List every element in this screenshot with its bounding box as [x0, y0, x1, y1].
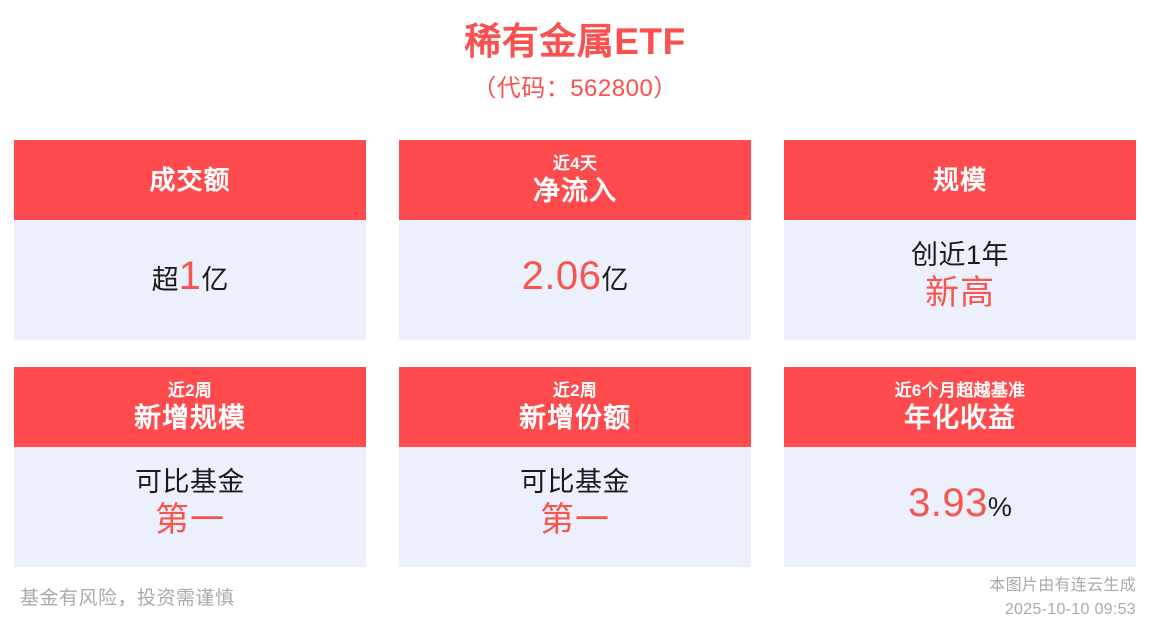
page-title: 稀有金属ETF [0, 18, 1150, 66]
risk-disclaimer: 基金有风险，投资需谨慎 [20, 586, 235, 612]
metric-card-period-label: 近6个月超越基准 [895, 380, 1026, 401]
metric-card-period-label: 近4天 [553, 153, 597, 174]
metric-card-title: 成交额 [149, 164, 230, 196]
metric-card-header: 近2周新增规模 [14, 367, 366, 447]
credit-timestamp: 2025-10-10 09:53 [989, 598, 1136, 622]
metric-card-header: 近6个月超越基准年化收益 [784, 367, 1136, 447]
metric-card-body: 超1亿 [14, 220, 366, 340]
metric-value-part: % [988, 492, 1012, 523]
page-header: 稀有金属ETF （代码：562800） [0, 0, 1150, 106]
metric-card-period-label: 近2周 [553, 380, 597, 401]
metric-card: 近6个月超越基准年化收益3.93% [784, 367, 1136, 567]
metric-card: 近4天净流入2.06亿 [399, 140, 751, 340]
metric-value-part: 亿 [601, 265, 628, 296]
metric-value-caption: 可比基金 [520, 466, 630, 499]
etf-summary-card-page: 稀有金属ETF （代码：562800） 成交额超1亿近4天净流入2.06亿规模创… [0, 0, 1150, 632]
metric-value-caption: 创近1年 [911, 239, 1009, 272]
metric-card-period-label: 近2周 [168, 380, 212, 401]
metric-value-part: 3.93 [908, 480, 988, 526]
metric-card: 成交额超1亿 [14, 140, 366, 340]
metric-card-title: 净流入 [533, 174, 617, 208]
metric-value-highlight: 新高 [925, 273, 995, 313]
metric-card-title: 新增份额 [519, 401, 631, 435]
page-footer: 基金有风险，投资需谨慎 本图片由有连云生成 2025-10-10 09:53 [0, 570, 1150, 632]
metric-card-header: 成交额 [14, 140, 366, 220]
metric-card: 规模创近1年新高 [784, 140, 1136, 340]
metric-value-highlight: 第一 [155, 500, 225, 540]
metric-value: 2.06亿 [522, 253, 629, 299]
metric-card-header: 规模 [784, 140, 1136, 220]
metric-value-caption: 可比基金 [135, 466, 245, 499]
image-credit: 本图片由有连云生成 2025-10-10 09:53 [989, 574, 1136, 622]
metric-card-body: 可比基金第一 [14, 447, 366, 567]
metric-value-highlight: 第一 [540, 500, 610, 540]
metric-card-grid: 成交额超1亿近4天净流入2.06亿规模创近1年新高近2周新增规模可比基金第一近2… [14, 140, 1136, 567]
metric-value: 3.93% [908, 480, 1012, 526]
credit-source: 本图片由有连云生成 [989, 574, 1136, 598]
metric-card-body: 可比基金第一 [399, 447, 751, 567]
metric-value-part: 超 [152, 265, 179, 296]
metric-card-title: 规模 [933, 164, 987, 196]
metric-card: 近2周新增规模可比基金第一 [14, 367, 366, 567]
metric-card-body: 创近1年新高 [784, 220, 1136, 340]
metric-value-part: 亿 [201, 265, 228, 296]
metric-value-part: 1 [179, 253, 202, 299]
metric-card-title: 年化收益 [904, 401, 1016, 435]
metric-card-header: 近4天净流入 [399, 140, 751, 220]
fund-code-subtitle: （代码：562800） [0, 72, 1150, 106]
metric-value-part: 2.06 [522, 253, 602, 299]
metric-card-body: 3.93% [784, 447, 1136, 567]
metric-value: 超1亿 [152, 253, 229, 299]
metric-card-title: 新增规模 [134, 401, 246, 435]
metric-card-header: 近2周新增份额 [399, 367, 751, 447]
metric-card: 近2周新增份额可比基金第一 [399, 367, 751, 567]
metric-card-body: 2.06亿 [399, 220, 751, 340]
